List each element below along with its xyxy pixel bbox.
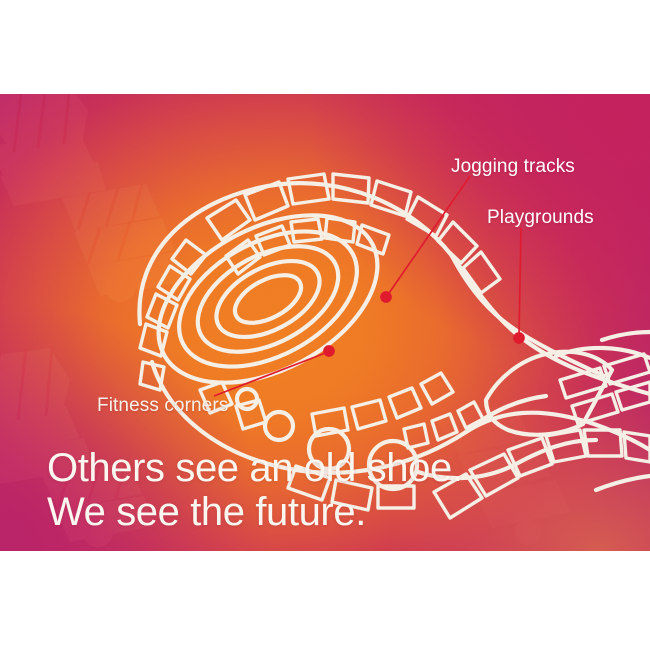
callout-label-jogging-tracks: Jogging tracks — [451, 156, 575, 178]
poster-canvas: Jogging tracks Playgrounds Fitness corne… — [0, 0, 650, 650]
callout-label-fitness-corners: Fitness corners — [97, 395, 228, 417]
poster-headline: Others see an old shoe. We see the futur… — [47, 446, 463, 534]
poster-artwork: Jogging tracks Playgrounds Fitness corne… — [0, 94, 650, 551]
headline-line-1: Others see an old shoe. — [47, 446, 463, 490]
callout-label-playgrounds: Playgrounds — [487, 207, 594, 229]
heel-concentric-ovals — [130, 181, 405, 417]
headline-line-2: We see the future. — [47, 490, 463, 534]
outsole-bottom-segments — [434, 430, 650, 518]
